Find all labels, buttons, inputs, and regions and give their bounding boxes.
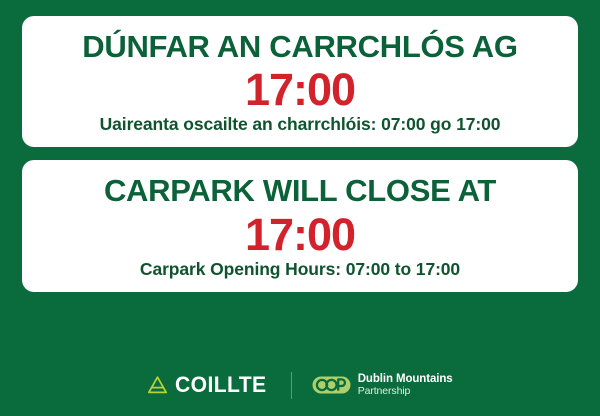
dublin-mountains-partnership-logo: Dublin Mountains Partnership bbox=[312, 373, 453, 396]
footer-divider bbox=[291, 372, 292, 399]
dmp-wordmark: Dublin Mountains Partnership bbox=[358, 373, 453, 396]
panel-irish: DÚNFAR AN CARRCHLÓS AG 17:00 Uaireanta o… bbox=[22, 16, 578, 147]
coillte-logo: COILLTE bbox=[147, 374, 270, 396]
dmp-wordmark-line2: Partnership bbox=[358, 386, 453, 397]
sign-panels: DÚNFAR AN CARRCHLÓS AG 17:00 Uaireanta o… bbox=[22, 16, 578, 292]
carpark-closing-sign: DÚNFAR AN CARRCHLÓS AG 17:00 Uaireanta o… bbox=[0, 0, 600, 416]
coillte-tree-triangle-icon bbox=[147, 375, 168, 395]
panel-english-opening-hours: Carpark Opening Hours: 07:00 to 17:00 bbox=[36, 259, 564, 280]
dmp-wordmark-line1: Dublin Mountains bbox=[358, 373, 453, 385]
sign-footer: COILLTE Dublin Mountains Partnership bbox=[0, 365, 600, 405]
panel-irish-closing-time: 17:00 bbox=[36, 67, 564, 112]
dmp-monogram-icon bbox=[312, 376, 351, 394]
panel-english-closing-time: 17:00 bbox=[36, 212, 564, 257]
coillte-wordmark: COILLTE bbox=[175, 374, 266, 396]
panel-english: CARPARK WILL CLOSE AT 17:00 Carpark Open… bbox=[22, 160, 578, 291]
panel-irish-opening-hours: Uaireanta oscailte an charrchlóis: 07:00… bbox=[36, 114, 564, 135]
panel-english-heading: CARPARK WILL CLOSE AT bbox=[36, 174, 564, 207]
panel-irish-heading: DÚNFAR AN CARRCHLÓS AG bbox=[36, 30, 564, 63]
